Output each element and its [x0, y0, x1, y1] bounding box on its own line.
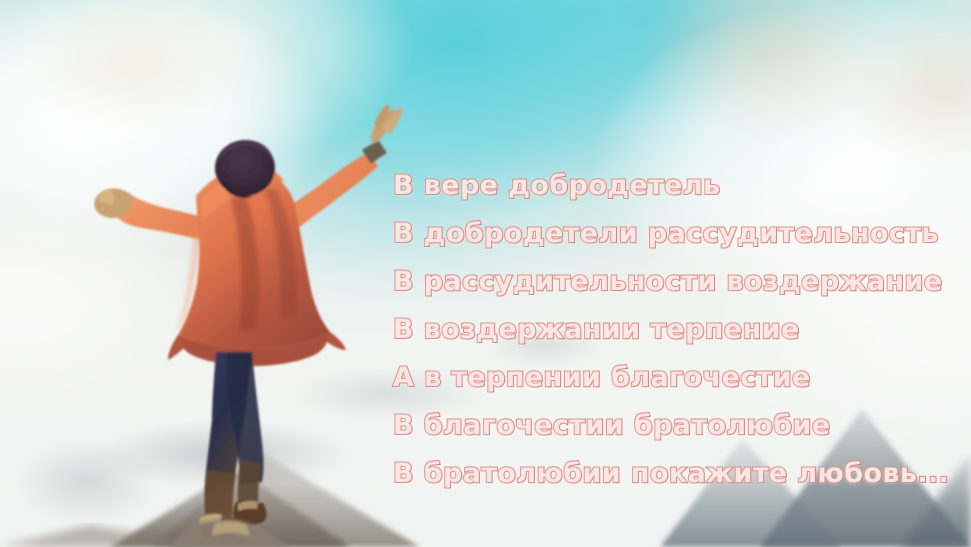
verse-line-4: В воздержании терпение [393, 306, 953, 354]
verse-line-1: В вере добродетель [393, 162, 953, 210]
verse-line-6: В благочестии братолюбие [393, 402, 953, 450]
verse-line-7: В братолюбии покажите любовь... [393, 450, 953, 498]
wallpaper-canvas: В вере добродетель В добродетели рассуди… [0, 0, 971, 547]
verse-line-2: В добродетели рассудительность [393, 210, 953, 258]
scripture-verse-block: В вере добродетель В добродетели рассуди… [393, 162, 953, 498]
verse-line-5: А в терпении благочестие [393, 354, 953, 402]
verse-line-3: В рассудительности воздержание [393, 258, 953, 306]
